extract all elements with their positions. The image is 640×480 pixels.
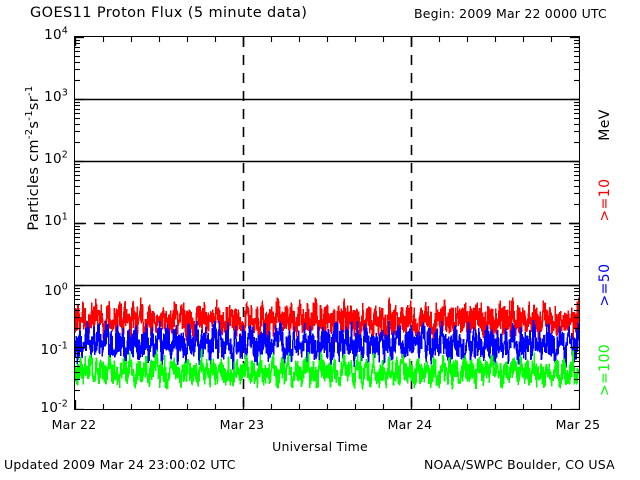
begin-time-label: Begin: 2009 Mar 22 0000 UTC (414, 8, 607, 21)
y-tick-label-1e1: 101 (2, 215, 68, 229)
y-tick-label-1e3: 103 (2, 91, 68, 105)
footer-agency-credit: NOAA/SWPC Boulder, CO USA (424, 459, 615, 472)
x-tick-label-mar23: Mar 23 (207, 419, 277, 432)
y-axis-exp-2: -1 (24, 110, 35, 121)
y-tick-label-1em2: 10-2 (2, 402, 68, 416)
y-tick-label-1e4: 104 (2, 29, 68, 43)
y-tick-label-1e2: 102 (2, 153, 68, 167)
proton-flux-figure: GOES11 Proton Flux (5 minute data) Begin… (0, 0, 640, 480)
y-axis-exp-1: -2 (24, 129, 35, 140)
x-tick-label-mar22: Mar 22 (39, 419, 109, 432)
plot-canvas (75, 37, 579, 409)
x-axis-title: Universal Time (0, 439, 640, 454)
plot-area (74, 36, 580, 410)
chart-title: GOES11 Proton Flux (5 minute data) (30, 6, 307, 21)
y-tick-label-1e0: 100 (2, 285, 68, 299)
y-tick-label-1em1: 10-1 (2, 344, 68, 358)
legend-entry-ge100: >=100 (597, 310, 613, 430)
x-tick-label-mar24: Mar 24 (375, 419, 445, 432)
y-axis-title-mid1: s (26, 121, 42, 129)
footer-updated-timestamp: Updated 2009 Mar 24 23:00:02 UTC (4, 459, 236, 472)
data-series-layer (75, 37, 579, 409)
